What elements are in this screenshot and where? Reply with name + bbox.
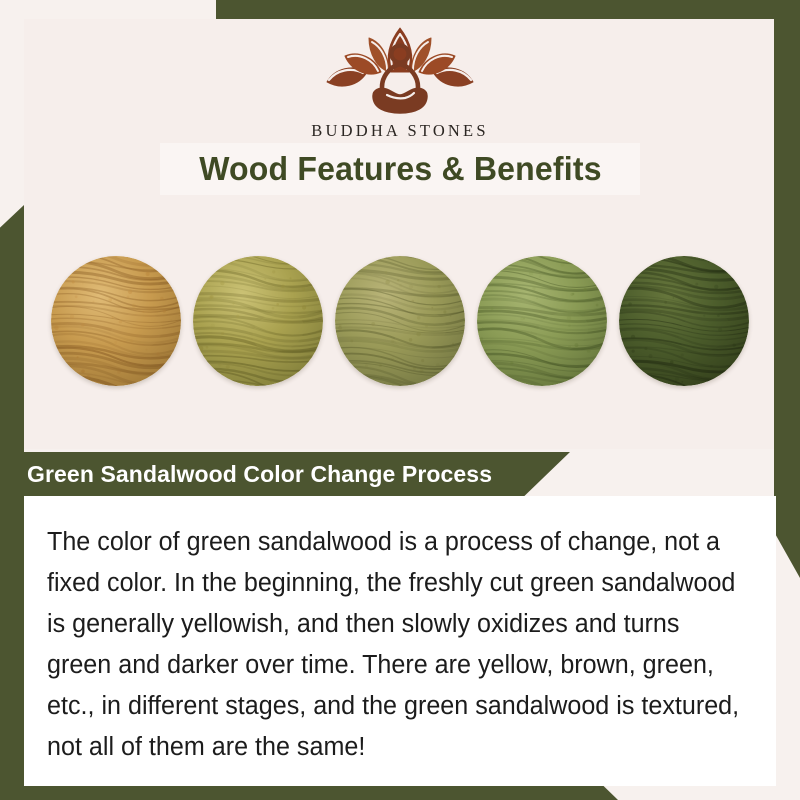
bead-stage-1 (51, 256, 181, 386)
body-panel: The color of green sandalwood is a proce… (24, 496, 776, 786)
page-title: Wood Features & Benefits (199, 150, 601, 188)
brand-logo: BUDDHA STONES (0, 24, 800, 141)
infographic-poster: BUDDHA STONES Wood Features & Benefits (0, 0, 800, 800)
bead-stage-2 (193, 256, 323, 386)
wood-grain-icon (335, 256, 465, 386)
bead-stage-3 (335, 256, 465, 386)
section-banner: Green Sandalwood Color Change Process (0, 452, 570, 496)
bead-stage-5 (619, 256, 749, 386)
wood-grain-icon (51, 256, 181, 386)
wood-grain-icon (193, 256, 323, 386)
wood-grain-icon (477, 256, 607, 386)
section-body-text: The color of green sandalwood is a proce… (47, 522, 746, 768)
bead-stage-4 (477, 256, 607, 386)
brand-name: BUDDHA STONES (311, 121, 488, 141)
page-title-band: Wood Features & Benefits (160, 143, 640, 195)
section-banner-title: Green Sandalwood Color Change Process (27, 461, 492, 488)
bead-gallery (0, 256, 800, 386)
lotus-meditation-figure-icon (315, 24, 485, 116)
frame-bar-top (216, 0, 800, 19)
wood-grain-icon (619, 256, 749, 386)
